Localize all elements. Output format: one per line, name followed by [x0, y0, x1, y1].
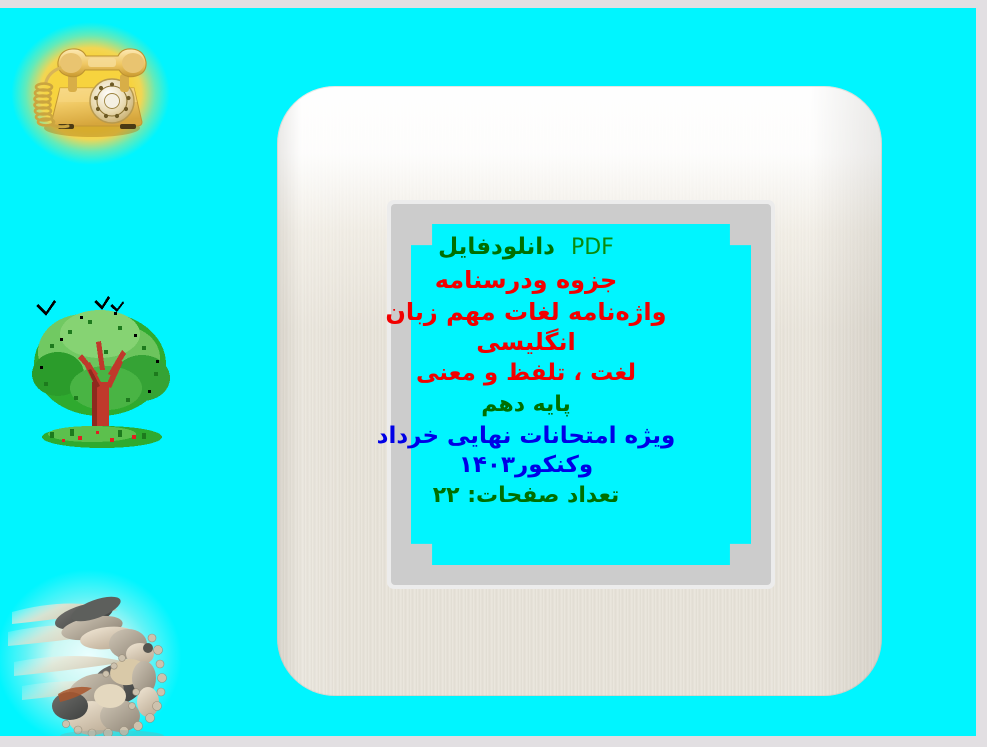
- poster-line-word-pron: لغت ، تلفظ و معنی: [330, 362, 722, 385]
- poster-line-english: انگلیسی: [330, 330, 722, 354]
- poster-line-grade: پایه دهم: [330, 394, 722, 416]
- page-root: PDF دانلودفایل جزوه ودرسنامه واژه‌نامه ل…: [0, 0, 987, 747]
- tree-icon: [22, 286, 182, 461]
- download-label: دانلودفایل: [438, 234, 555, 260]
- telephone-icon: [8, 16, 173, 171]
- tree-decoration: [22, 286, 182, 461]
- poster-canvas: PDF دانلودفایل جزوه ودرسنامه واژه‌نامه ل…: [0, 8, 976, 736]
- file-format-label: PDF: [571, 235, 614, 260]
- rabbit-icon: [0, 566, 185, 736]
- poster-line-konkur: وکنکور۱۴۰۳: [330, 454, 722, 477]
- poster-line-page-count: تعداد صفحات: ۲۲: [330, 485, 722, 507]
- poster-line-booklet: جزوه ودرسنامه: [330, 268, 722, 292]
- poster-text-block: PDF دانلودفایل جزوه ودرسنامه واژه‌نامه ل…: [330, 236, 722, 507]
- poster-line-exams: ویژه امتحانات نهایی خرداد: [330, 425, 722, 448]
- telephone-decoration: [8, 16, 173, 171]
- rabbit-decoration: [0, 566, 185, 736]
- poster-line-title: PDF دانلودفایل: [330, 236, 722, 259]
- poster-line-glossary: واژه‌نامه لغات مهم زبان: [330, 300, 722, 324]
